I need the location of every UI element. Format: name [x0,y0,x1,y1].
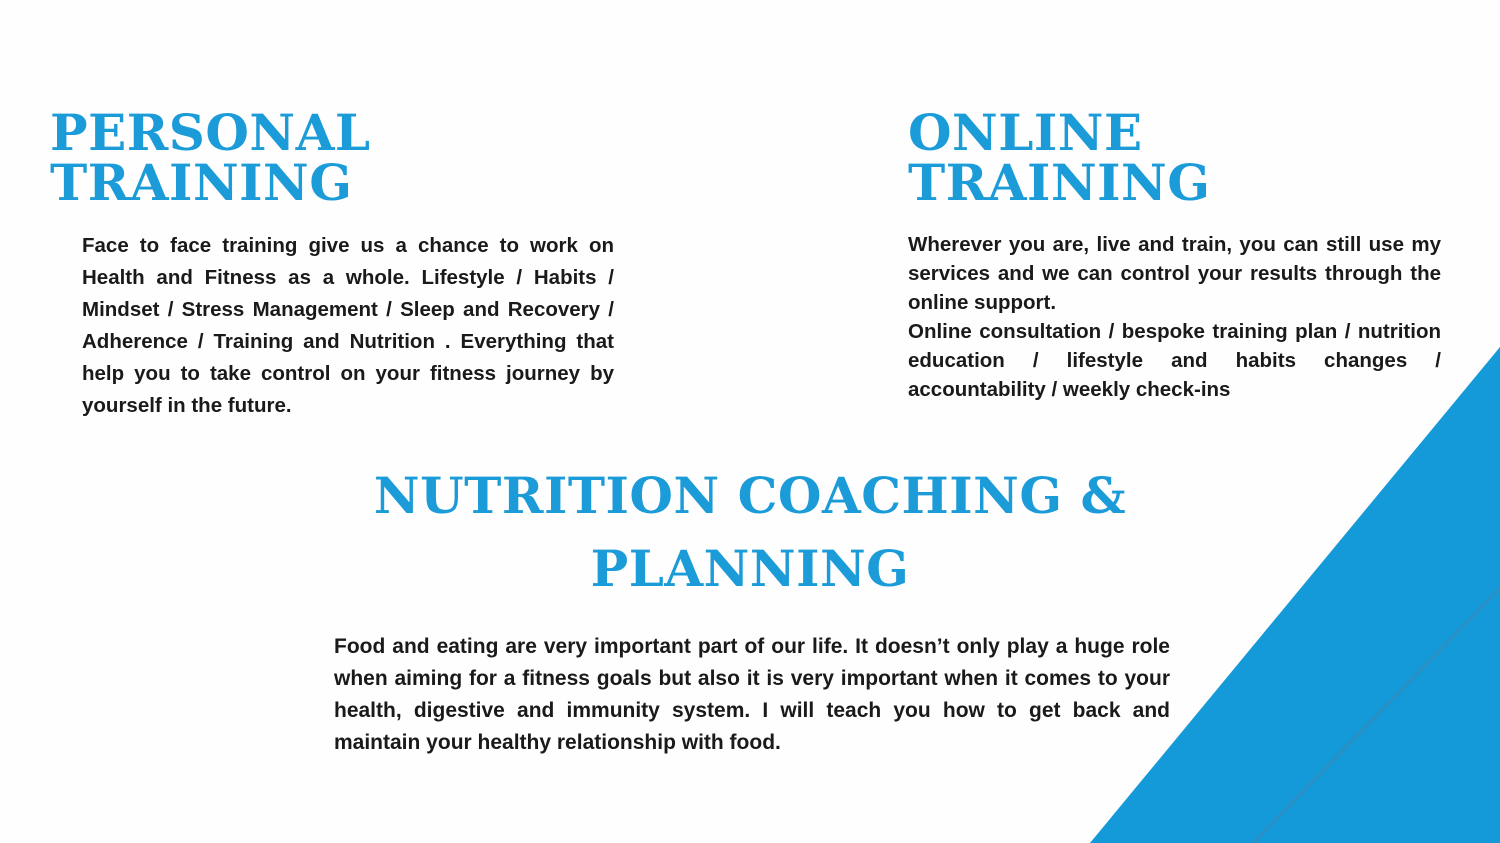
nutrition-coaching-heading-line-1: NUTRITION COACHING & [374,466,1126,525]
online-training-body: Wherever you are, live and train, you ca… [908,230,1441,404]
thin-diagonal-blue-stripe-inner [1330,660,1500,843]
section-online-training: ONLINE TRAINING Wherever you are, live a… [908,108,1453,404]
nutrition-coaching-heading: NUTRITION COACHING & PLANNING [250,460,1250,605]
personal-training-heading: PERSONAL TRAINING [50,108,670,208]
personal-training-body: Face to face training give us a chance t… [82,230,614,422]
personal-training-paragraph: Face to face training give us a chance t… [82,230,614,422]
slide-canvas: PERSONAL TRAINING Face to face training … [0,0,1500,843]
nutrition-coaching-body: Food and eating are very important part … [334,631,1170,759]
section-nutrition-coaching: NUTRITION COACHING & PLANNING Food and e… [250,460,1250,759]
nutrition-coaching-paragraph: Food and eating are very important part … [334,631,1170,759]
section-personal-training: PERSONAL TRAINING Face to face training … [50,108,670,422]
online-training-heading: ONLINE TRAINING [908,108,1453,208]
online-training-paragraph-1: Wherever you are, live and train, you ca… [908,230,1441,317]
online-training-paragraph-2: Online consultation / bespoke training p… [908,317,1441,404]
thin-diagonal-blue-stripe [1253,588,1500,843]
nutrition-coaching-heading-line-2: PLANNING [591,539,910,598]
